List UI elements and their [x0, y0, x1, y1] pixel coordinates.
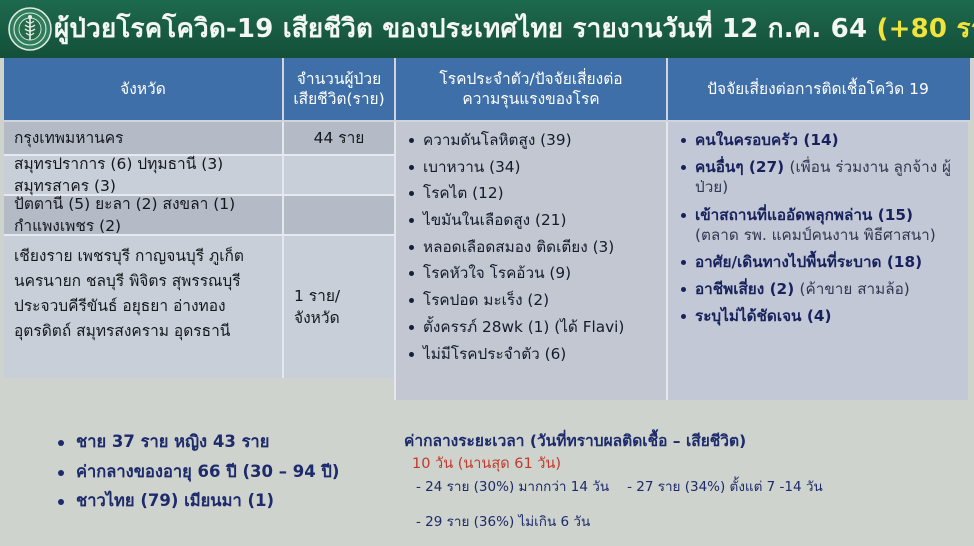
column-header-death-count: จำนวนผู้ป่วย เสียชีวิต(ราย) — [282, 58, 394, 120]
column-header-death-count-line2: เสียชีวิต(ราย) — [293, 89, 384, 109]
list-item: ค่ากลางของอายุ 66 ปี (30 – 94 ปี) — [56, 462, 416, 483]
risk-label: คนในครอบครัว (14) — [695, 131, 839, 149]
province-line: นครนายก ชลบุรี พิจิตร สุพรรณบุรี — [14, 269, 244, 294]
province-names-block: เชียงราย เพชรบุรี กาญจนบุรี ภูเก็ต นครนา… — [4, 236, 282, 378]
duration-title: ค่ากลางระยะเวลา (วันที่ทราบผลติดเชื้อ – … — [404, 432, 970, 451]
province-names: กรุงเทพมหานคร — [4, 122, 282, 154]
summary-section: ชาย 37 ราย หญิง 43 ราย ค่ากลางของอายุ 66… — [0, 400, 974, 546]
page-title-highlight: (+80 ราย) — [877, 14, 974, 44]
deaths-table: จังหวัด จำนวนผู้ป่วย เสียชีวิต(ราย) โรคป… — [4, 58, 970, 398]
list-item: อาศัย/เดินทางไปพื้นที่ระบาด (18) — [678, 252, 962, 272]
breakdown-item: - 27 ราย (34%) ตั้งแต่ 7 -14 วัน — [627, 479, 823, 497]
list-item: โรคปอด มะเร็ง (2) — [406, 290, 660, 310]
page-header: ผู้ป่วยโรคโควิด-19 เสียชีวิต ของประเทศไท… — [0, 0, 974, 58]
risk-label: เข้าสถานที่แออัดพลุกพล่าน (15) — [695, 206, 913, 224]
table-row-single-case-provinces: เชียงราย เพชรบุรี กาญจนบุรี ภูเก็ต นครนา… — [4, 236, 394, 378]
province-names: สมุทรปราการ (6) ปทุมธานี (3) สมุทรสาคร (… — [4, 156, 282, 194]
column-header-infection-risk: ปัจจัยเสี่ยงต่อการติดเชื้อโควิด 19 — [666, 58, 968, 120]
province-line: อุตรดิตถ์ สมุทรสงคราม อุดรธานี — [14, 319, 244, 344]
underlying-conditions-list: ความดันโลหิตสูง (39) เบาหวาน (34) โรคไต … — [406, 130, 660, 364]
list-item: ชาย 37 ราย หญิง 43 ราย — [56, 432, 416, 453]
death-count-per-province: 1 ราย/จังหวัด — [282, 236, 394, 378]
list-item: ไม่มีโรคประจำตัว (6) — [406, 344, 660, 364]
risk-label: อาศัย/เดินทางไปพื้นที่ระบาด (18) — [695, 253, 922, 271]
duration-breakdown: - 24 ราย (30%) มากกว่า 14 วัน - 27 ราย (… — [416, 479, 970, 532]
risk-note: (ค้าขาย สามล้อ) — [800, 280, 910, 298]
duration-median: 10 วัน (นานสุด 61 วัน) — [412, 455, 970, 473]
list-item: ตั้งครรภ์ 28wk (1) (ได้ Flavi) — [406, 317, 660, 337]
demographics-list: ชาย 37 ราย หญิง 43 ราย ค่ากลางของอายุ 66… — [56, 432, 416, 512]
report-page: ผู้ป่วยโรคโควิด-19 เสียชีวิต ของประเทศไท… — [0, 0, 974, 546]
risk-label: อาชีพเสี่ยง (2) — [695, 280, 794, 298]
breakdown-item: - 29 ราย (36%) ไม่เกิน 6 วัน — [416, 514, 590, 532]
province-count-section: กรุงเทพมหานคร 44 ราย สมุทรปราการ (6) ปทุ… — [4, 122, 394, 400]
table-row: ปัตตานี (5) ยะลา (2) สงขลา (1) กำแพงเพชร… — [4, 196, 394, 236]
infection-risk-list: คนในครอบครัว (14) คนอื่นๆ (27) (เพื่อน ร… — [678, 130, 962, 327]
province-names: ปัตตานี (5) ยะลา (2) สงขลา (1) กำแพงเพชร… — [4, 196, 282, 234]
page-title-text: ผู้ป่วยโรคโควิด-19 เสียชีวิต ของประเทศไท… — [54, 14, 867, 44]
table-body: กรุงเทพมหานคร 44 ราย สมุทรปราการ (6) ปทุ… — [4, 122, 970, 400]
risk-note: (ตลาด รพ. แคมป์คนงาน พิธีศาสนา) — [695, 226, 936, 244]
infection-risk-cell: คนในครอบครัว (14) คนอื่นๆ (27) (เพื่อน ร… — [666, 122, 968, 400]
list-item: โรคไต (12) — [406, 183, 660, 203]
list-item: หลอดเลือดสมอง ติดเตียง (3) — [406, 237, 660, 257]
underlying-conditions-cell: ความดันโลหิตสูง (39) เบาหวาน (34) โรคไต … — [394, 122, 666, 400]
table-header-row: จังหวัด จำนวนผู้ป่วย เสียชีวิต(ราย) โรคป… — [4, 58, 970, 122]
list-item: ระบุไม่ได้ชัดเจน (4) — [678, 306, 962, 326]
list-item: โรคหัวใจ โรคอ้วน (9) — [406, 263, 660, 283]
breakdown-item: - 24 ราย (30%) มากกว่า 14 วัน — [416, 479, 609, 497]
death-count — [282, 196, 394, 234]
column-header-underlying-conditions-line2: ความรุนแรงของโรค — [439, 89, 622, 109]
province-line: ประจวบคีรีขันธ์ อยุธยา อ่างทอง — [14, 294, 244, 319]
column-header-underlying-conditions: โรคประจำตัว/ปัจจัยเสี่ยงต่อ ความรุนแรงขอ… — [394, 58, 666, 120]
page-title: ผู้ป่วยโรคโควิด-19 เสียชีวิต ของประเทศไท… — [54, 15, 974, 44]
list-item: ความดันโลหิตสูง (39) — [406, 130, 660, 150]
risk-label: คนอื่นๆ (27) — [695, 158, 784, 176]
risk-label: ระบุไม่ได้ชัดเจน (4) — [695, 307, 831, 325]
column-header-province: จังหวัด — [4, 58, 282, 120]
list-item: คนอื่นๆ (27) (เพื่อน ร่วมงาน ลูกจ้าง ผู้… — [678, 157, 962, 197]
table-row: กรุงเทพมหานคร 44 ราย — [4, 122, 394, 156]
demographics-summary: ชาย 37 ราย หญิง 43 ราย ค่ากลางของอายุ 66… — [56, 432, 416, 521]
table-row: สมุทรปราการ (6) ปทุมธานี (3) สมุทรสาคร (… — [4, 156, 394, 196]
list-item: ชาวไทย (79) เมียนมา (1) — [56, 491, 416, 512]
death-count — [282, 156, 394, 194]
list-item: อาชีพเสี่ยง (2) (ค้าขาย สามล้อ) — [678, 279, 962, 299]
list-item: คนในครอบครัว (14) — [678, 130, 962, 150]
list-item: ไขมันในเลือดสูง (21) — [406, 210, 660, 230]
ministry-of-public-health-emblem — [6, 5, 54, 53]
duration-summary: ค่ากลางระยะเวลา (วันที่ทราบผลติดเชื้อ – … — [404, 432, 970, 532]
list-item: เบาหวาน (34) — [406, 157, 660, 177]
list-item: เข้าสถานที่แออัดพลุกพล่าน (15) (ตลาด รพ.… — [678, 205, 962, 245]
province-line: เชียงราย เพชรบุรี กาญจนบุรี ภูเก็ต — [14, 244, 244, 269]
column-header-underlying-conditions-line1: โรคประจำตัว/ปัจจัยเสี่ยงต่อ — [439, 69, 622, 89]
death-count: 44 ราย — [282, 122, 394, 154]
column-header-death-count-line1: จำนวนผู้ป่วย — [293, 69, 384, 89]
